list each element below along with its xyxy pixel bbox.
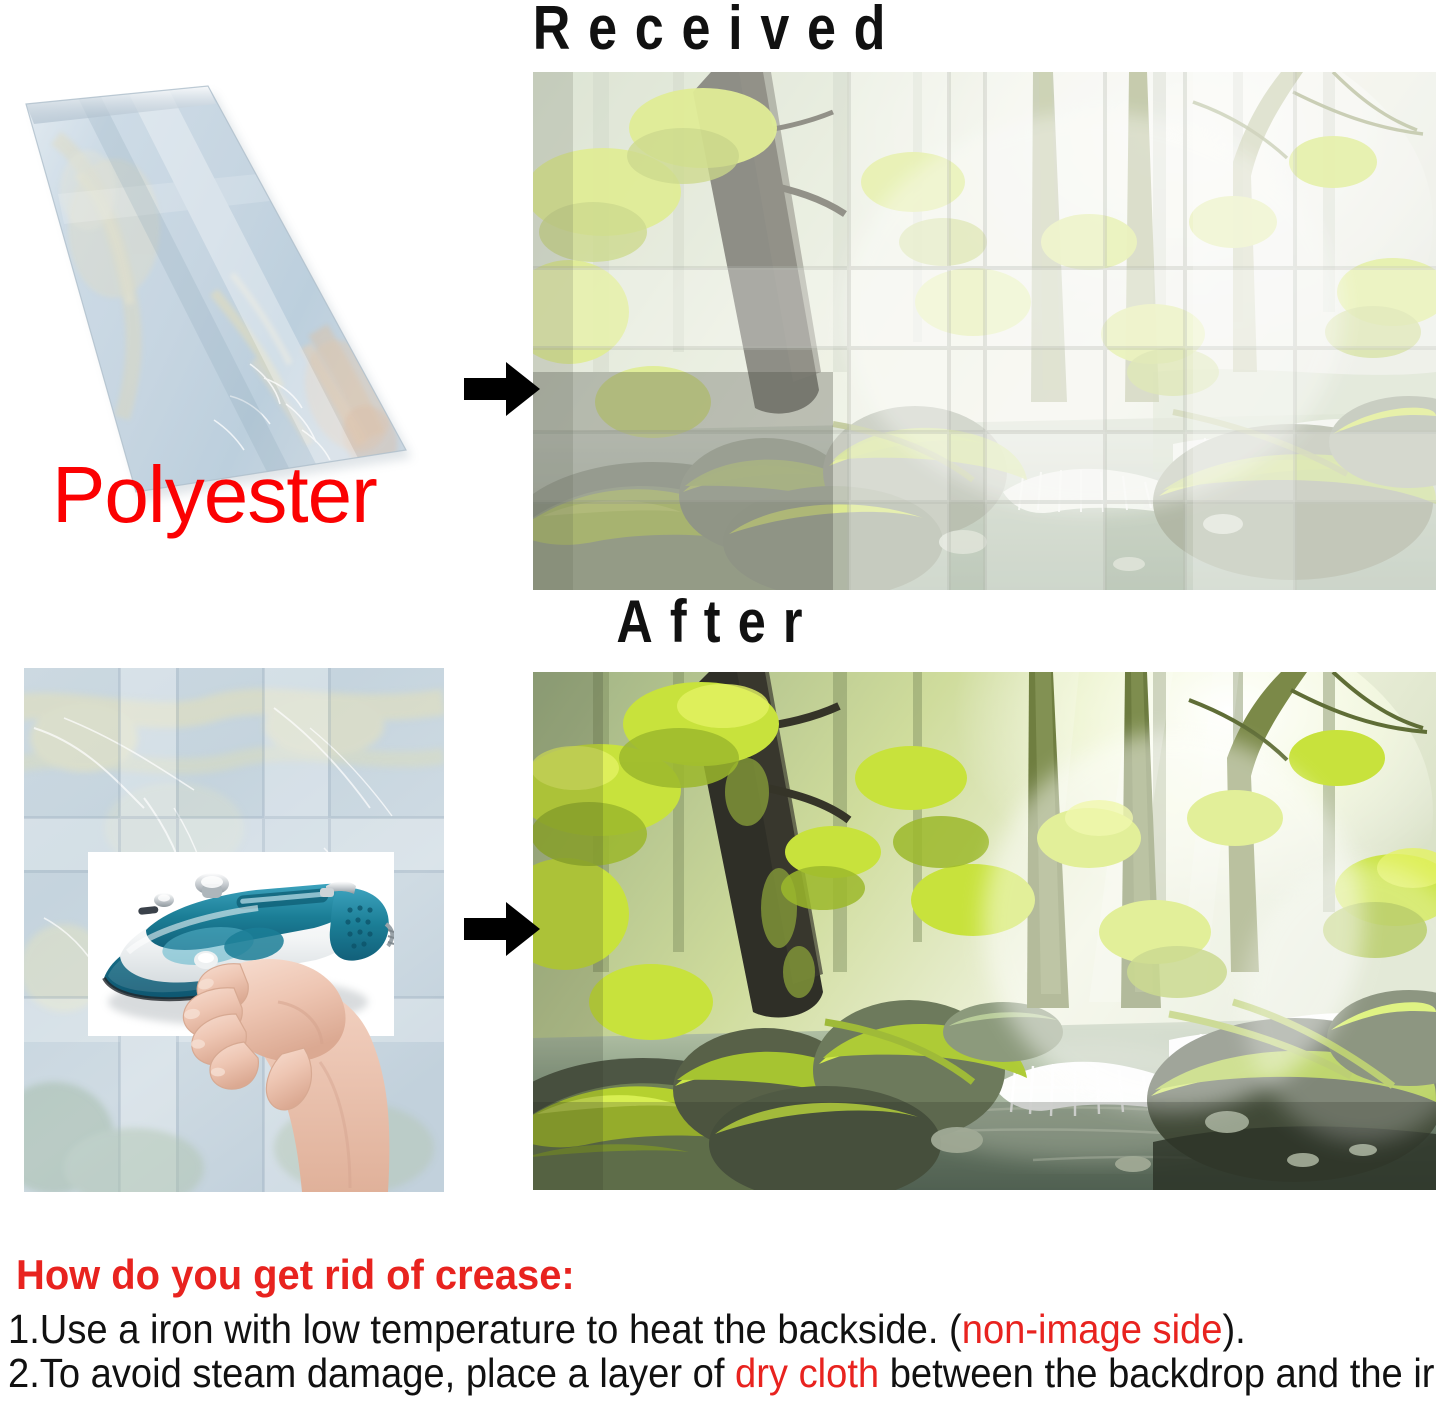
right-arrow-icon bbox=[462, 898, 542, 960]
after-photo bbox=[533, 672, 1436, 1190]
right-arrow-icon bbox=[462, 358, 542, 420]
received-photo bbox=[533, 72, 1436, 590]
care-instruction-2: 2.To avoid steam damage, place a layer o… bbox=[8, 1350, 1436, 1396]
care-line-1-prefix: 1.Use a iron with low temperature to hea… bbox=[8, 1306, 962, 1352]
infographic-stage: Received bbox=[0, 0, 1436, 1402]
care-instructions-title: How do you get rid of crease: bbox=[16, 1252, 575, 1298]
received-heading: Received bbox=[115, 0, 1321, 60]
care-line-2-highlight: dry cloth bbox=[735, 1350, 879, 1396]
care-line-1-highlight: non-image side bbox=[962, 1306, 1223, 1352]
iron-photo-card bbox=[88, 852, 394, 1036]
care-instruction-1: 1.Use a iron with low temperature to hea… bbox=[8, 1306, 1246, 1352]
after-heading: After bbox=[115, 592, 1321, 652]
care-line-2-suffix: between the backdrop and the iron. bbox=[879, 1350, 1436, 1396]
care-line-1-suffix: ). bbox=[1222, 1306, 1245, 1352]
care-line-2-prefix: 2.To avoid steam damage, place a layer o… bbox=[8, 1350, 735, 1396]
polyester-label: Polyester bbox=[52, 455, 377, 535]
folded-fabric-image bbox=[18, 78, 438, 508]
